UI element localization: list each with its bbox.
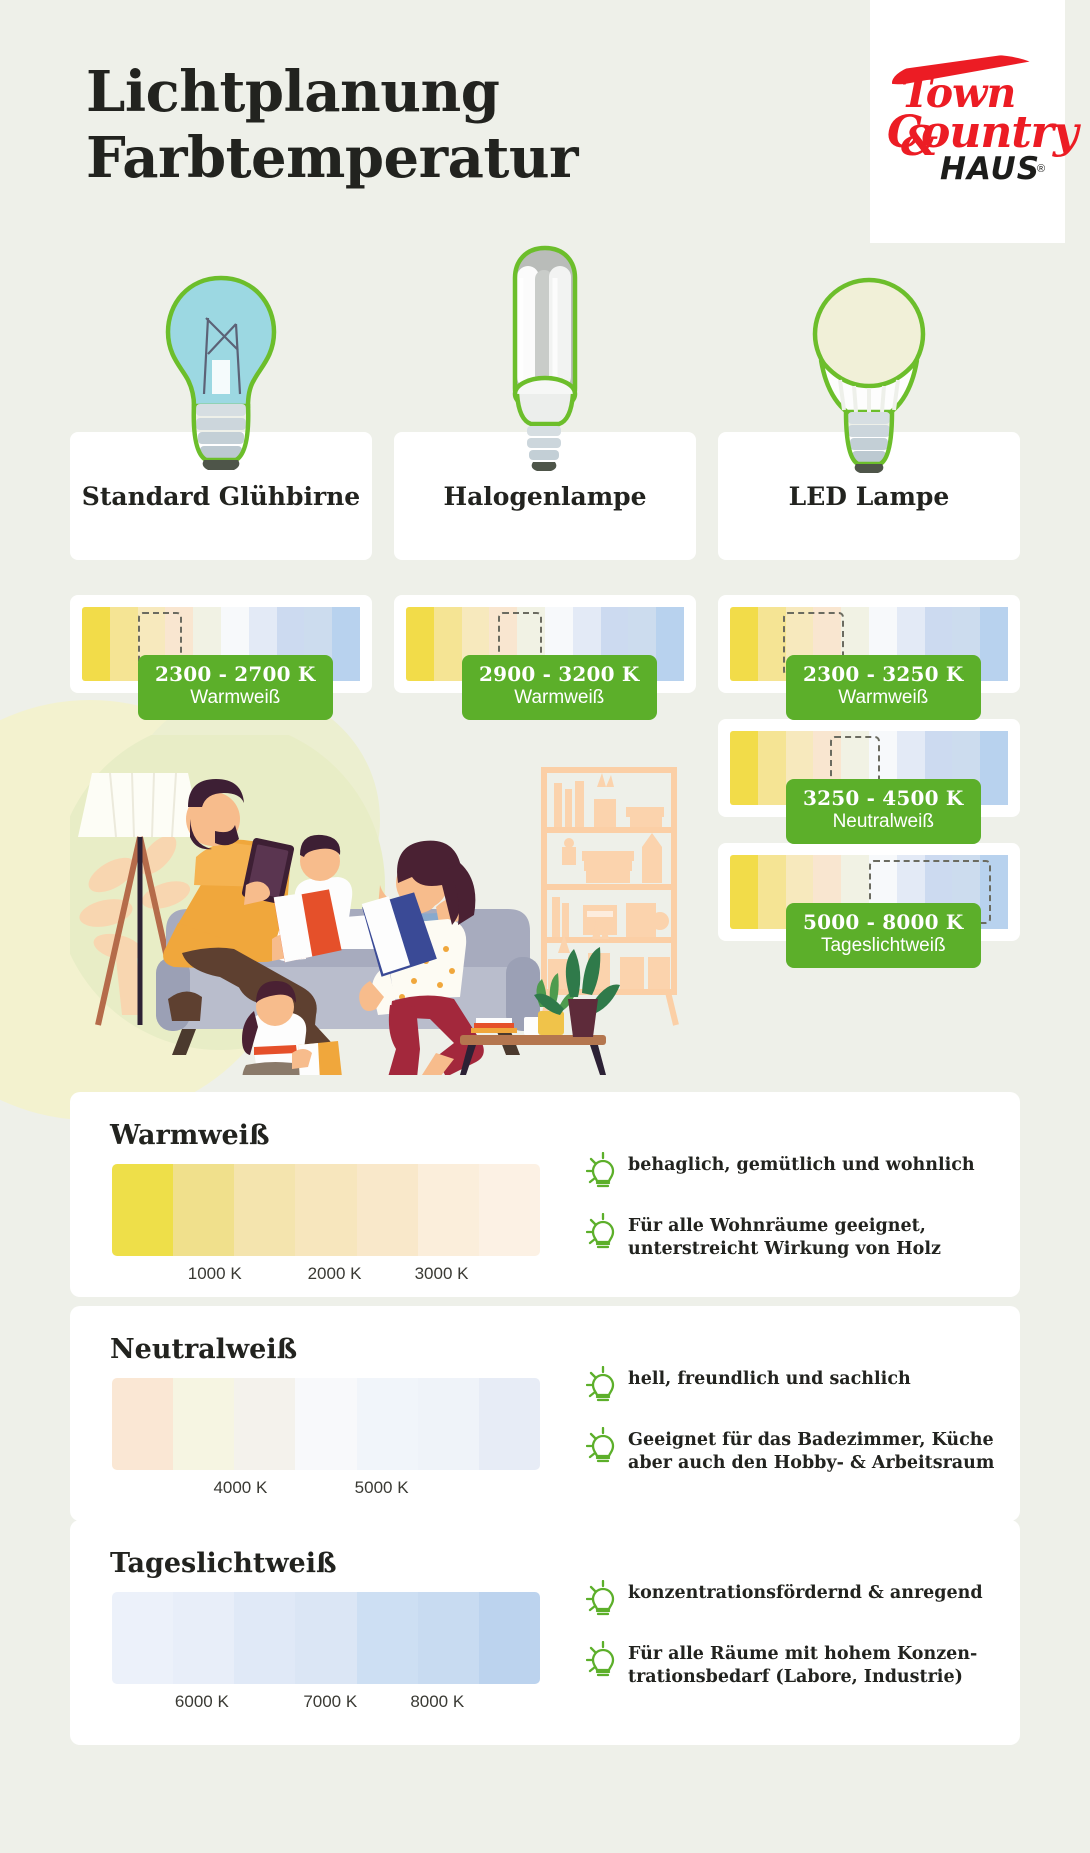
gradient-band	[758, 855, 786, 929]
axis-tick-label: 7000 K	[303, 1692, 357, 1712]
gradient-band	[758, 731, 786, 805]
gradient-band	[295, 1592, 356, 1684]
gradient-band	[730, 731, 758, 805]
gradient-band	[234, 1592, 295, 1684]
cfl-bulb-icon	[394, 270, 696, 480]
lightbulb-icon	[586, 1364, 628, 1407]
gradient-band	[82, 607, 110, 681]
lightbulb-icon	[586, 1150, 628, 1193]
family-living-room-illustration	[70, 735, 710, 1075]
bullet-text: Geeignet für das Badezimmer, Küche aber …	[628, 1425, 994, 1475]
bullet-item: Für alle Räume mit hohem Konzen- tration…	[586, 1639, 1006, 1689]
color-temperature-panel: Tageslichtweiß6000 K7000 K8000 K konzent…	[70, 1520, 1020, 1745]
temperature-category-label: Neutralweiß	[803, 811, 964, 834]
bullet-item: behaglich, gemütlich und wohnlich	[586, 1150, 1006, 1193]
lightbulb-icon	[586, 1639, 628, 1682]
temperature-range-label: 2300 - 2700 K	[155, 663, 316, 686]
led-bulb-icon	[718, 270, 1020, 480]
logo-haus-text: HAUS	[940, 151, 1040, 187]
gradient-band	[295, 1164, 356, 1256]
axis-tick-label: 2000 K	[308, 1264, 362, 1284]
panel-bullet-list: behaglich, gemütlich und wohnlich Für al…	[586, 1150, 1006, 1279]
gradient-band	[295, 1378, 356, 1470]
temperature-range-label: 2300 - 3250 K	[803, 663, 964, 686]
gradient-band	[173, 1378, 234, 1470]
temperature-range-label: 2900 - 3200 K	[479, 663, 640, 686]
panel-gradient-strip	[112, 1378, 540, 1470]
incandescent-bulb-icon	[70, 270, 372, 480]
temperature-category-label: Warmweiß	[155, 687, 316, 710]
lightbulb-icon	[586, 1211, 628, 1254]
temperature-badge[interactable]: 3250 - 4500 KNeutralweiß	[786, 779, 981, 844]
gradient-band	[730, 607, 758, 681]
gradient-band	[479, 1164, 540, 1256]
gradient-band	[332, 607, 360, 681]
page-title-line-1: Lichtplanung	[86, 60, 578, 126]
gradient-band	[418, 1592, 479, 1684]
temperature-category-label: Warmweiß	[803, 687, 964, 710]
page-title: Lichtplanung Farbtemperatur	[86, 60, 578, 191]
gradient-band	[418, 1378, 479, 1470]
bullet-item: Für alle Wohnräume geeignet, unterstreic…	[586, 1211, 1006, 1261]
bullet-item: konzentrationsfördernd & anregend	[586, 1578, 1006, 1621]
axis-tick-labels: 4000 K5000 K	[112, 1478, 540, 1502]
gradient-band	[758, 607, 786, 681]
panel-bullet-list: hell, freundlich und sachlich Geeignet f…	[586, 1364, 1006, 1493]
lightbulb-icon	[586, 1578, 628, 1621]
axis-tick-label: 1000 K	[188, 1264, 242, 1284]
color-temperature-panel: Neutralweiß4000 K5000 K hell, freundlich…	[70, 1306, 1020, 1521]
lightbulb-icon	[586, 1425, 628, 1468]
temperature-badge[interactable]: 5000 - 8000 KTageslichtweiß	[786, 903, 981, 968]
gradient-band	[479, 1592, 540, 1684]
gradient-band	[656, 607, 684, 681]
panel-gradient-strip	[112, 1164, 540, 1256]
gradient-band	[406, 607, 434, 681]
gradient-band	[980, 731, 1008, 805]
panel-gradient-strip	[112, 1592, 540, 1684]
gradient-band	[173, 1592, 234, 1684]
lamp-name-label: Halogenlampe	[443, 482, 646, 511]
axis-tick-label: 6000 K	[175, 1692, 229, 1712]
panel-title: Neutralweiß	[110, 1334, 297, 1365]
axis-tick-label: 8000 K	[410, 1692, 464, 1712]
temperature-badge[interactable]: 2300 - 3250 KWarmweiß	[786, 655, 981, 720]
color-temperature-panel: Warmweiß1000 K2000 K3000 K behaglich, ge…	[70, 1092, 1020, 1297]
page-title-line-2: Farbtemperatur	[86, 126, 578, 192]
logo-registered-mark: ®	[1037, 163, 1045, 175]
lamp-name-label: Standard Glühbirne	[82, 482, 360, 511]
bullet-text: hell, freundlich und sachlich	[628, 1364, 911, 1391]
temperature-badge[interactable]: 2900 - 3200 KWarmweiß	[462, 655, 657, 720]
infographic-page: Lichtplanung Farbtemperatur Town & Count…	[0, 0, 1090, 1853]
axis-tick-label: 3000 K	[415, 1264, 469, 1284]
gradient-band	[357, 1164, 418, 1256]
bullet-item: Geeignet für das Badezimmer, Küche aber …	[586, 1425, 1006, 1475]
bullet-text: Für alle Wohnräume geeignet, unterstreic…	[628, 1211, 941, 1261]
panel-title: Warmweiß	[110, 1120, 269, 1151]
temperature-category-label: Warmweiß	[479, 687, 640, 710]
axis-tick-labels: 6000 K7000 K8000 K	[112, 1692, 540, 1716]
bullet-text: behaglich, gemütlich und wohnlich	[628, 1150, 975, 1177]
temperature-badge[interactable]: 2300 - 2700 KWarmweiß	[138, 655, 333, 720]
gradient-band	[479, 1378, 540, 1470]
gradient-band	[173, 1164, 234, 1256]
gradient-band	[112, 1378, 173, 1470]
bullet-text: konzentrationsfördernd & anregend	[628, 1578, 983, 1605]
gradient-band	[434, 607, 462, 681]
temperature-category-label: Tageslichtweiß	[803, 935, 964, 958]
gradient-band	[357, 1378, 418, 1470]
gradient-band	[357, 1592, 418, 1684]
bullet-text: Für alle Räume mit hohem Konzen- tration…	[628, 1639, 977, 1689]
gradient-band	[980, 607, 1008, 681]
gradient-band	[234, 1378, 295, 1470]
temperature-range-label: 3250 - 4500 K	[803, 787, 964, 810]
gradient-band	[234, 1164, 295, 1256]
lamp-name-label: LED Lampe	[789, 482, 950, 511]
bullet-item: hell, freundlich und sachlich	[586, 1364, 1006, 1407]
gradient-band	[730, 855, 758, 929]
gradient-band	[110, 607, 138, 681]
brand-logo: Town & Country HAUS ®	[870, 0, 1065, 243]
gradient-band	[112, 1592, 173, 1684]
axis-tick-label: 4000 K	[213, 1478, 267, 1498]
axis-tick-labels: 1000 K2000 K3000 K	[112, 1264, 540, 1288]
gradient-band	[112, 1164, 173, 1256]
axis-tick-label: 5000 K	[355, 1478, 409, 1498]
temperature-range-label: 5000 - 8000 K	[803, 911, 964, 934]
panel-title: Tageslichtweiß	[110, 1548, 337, 1579]
panel-bullet-list: konzentrationsfördernd & anregend Für al…	[586, 1578, 1006, 1707]
gradient-band	[418, 1164, 479, 1256]
